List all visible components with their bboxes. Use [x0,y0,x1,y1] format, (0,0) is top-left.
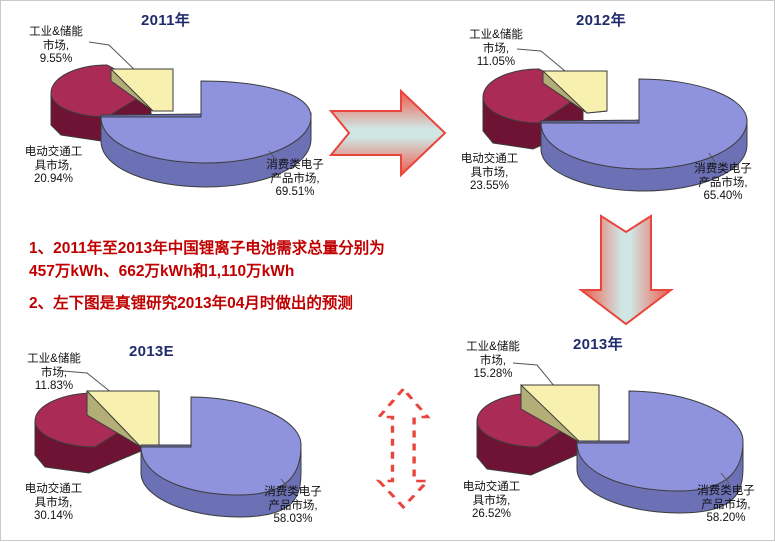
label-industrial-name-2011: 工业&储能 [6,26,106,40]
dashed-arrow-shape [379,389,428,507]
label-industrial-value-2013E: 11.83% [4,380,104,394]
label-ev-2013E: 电动交通工 具市场, 30.14% [1,483,106,524]
label-industrial-value-2013: 15.28% [443,368,543,382]
label-ev-value-2011: 20.94% [1,173,106,187]
label-industrial-name2-2012: 市场, [446,43,546,57]
label-consumer-name-2012: 消费类电子 [673,163,773,177]
label-ev-name2-2013: 具市场, [439,495,544,509]
down-transition-arrow [571,206,681,331]
label-ev-name2-2011: 具市场, [1,160,106,174]
slide-canvas: 2011年 工业&储能 市场, 9.55% 电动交通工 具市场, 20.94% [1,1,774,540]
label-industrial-2012: 工业&储能 市场, 11.05% [446,29,546,70]
notes-line-3: 2、左下图是真锂研究2013年04月时做出的预测 [29,292,385,315]
label-consumer-name2-2013E: 产品市场, [243,500,343,514]
label-ev-value-2013E: 30.14% [1,510,106,524]
label-ev-name-2011: 电动交通工 [1,146,106,160]
label-ev-name-2013E: 电动交通工 [1,483,106,497]
down-arrow-shape [581,216,671,324]
right-transition-arrow [323,89,453,179]
label-industrial-2013E: 工业&储能 市场, 11.83% [4,353,104,394]
dashed-updown-arrow [336,381,446,516]
label-ev-2011: 电动交通工 具市场, 20.94% [1,146,106,187]
pie-chart-2013E: 2013E 工业&储能 市场, 11.83% 电动交通工 具市场, 30.14%… [1,331,391,542]
label-industrial-value-2012: 11.05% [446,56,546,70]
label-consumer-2013E: 消费类电子 产品市场, 58.03% [243,486,343,527]
label-industrial-name-2013: 工业&储能 [443,341,543,355]
label-ev-2013: 电动交通工 具市场, 26.52% [439,481,544,522]
label-industrial-2013: 工业&储能 市场, 15.28% [443,341,543,382]
notes-line-1: 1、2011年至2013年中国锂离子电池需求总量分别为 [29,237,385,260]
label-consumer-2012: 消费类电子 产品市场, 65.40% [673,163,773,204]
label-industrial-name2-2013: 市场, [443,355,543,369]
notes-block: 1、2011年至2013年中国锂离子电池需求总量分别为 457万kWh、662万… [29,237,385,315]
label-consumer-value-2013: 58.20% [676,512,775,526]
label-consumer-value-2011: 69.51% [245,186,345,200]
notes-line-2: 457万kWh、662万kWh和1,110万kWh [29,260,385,283]
label-ev-name2-2013E: 具市场, [1,497,106,511]
label-consumer-name-2013E: 消费类电子 [243,486,343,500]
label-industrial-name2-2011: 市场, [6,40,106,54]
label-consumer-name-2013: 消费类电子 [676,485,775,499]
label-industrial-name2-2013E: 市场, [4,367,104,381]
label-industrial-name-2012: 工业&储能 [446,29,546,43]
pie-chart-2012: 2012年 工业&储能 市场, 11.05% 电动交通工 具市场, 23.55%… [421,1,775,226]
pie-chart-2013: 2013年 工业&储能 市场, 15.28% 电动交通工 具市场, 26.52%… [421,321,775,542]
label-industrial-value-2011: 9.55% [6,53,106,67]
label-industrial-2011: 工业&储能 市场, 9.55% [6,26,106,67]
label-consumer-name2-2012: 产品市场, [673,177,773,191]
label-ev-name-2013: 电动交通工 [439,481,544,495]
label-consumer-2013: 消费类电子 产品市场, 58.20% [676,485,775,526]
right-arrow-shape [331,91,445,175]
label-industrial-name-2013E: 工业&储能 [4,353,104,367]
label-ev-value-2013: 26.52% [439,508,544,522]
label-consumer-name2-2013: 产品市场, [676,499,775,513]
label-consumer-value-2012: 65.40% [673,190,773,204]
label-consumer-value-2013E: 58.03% [243,513,343,527]
label-ev-value-2012: 23.55% [437,180,542,194]
